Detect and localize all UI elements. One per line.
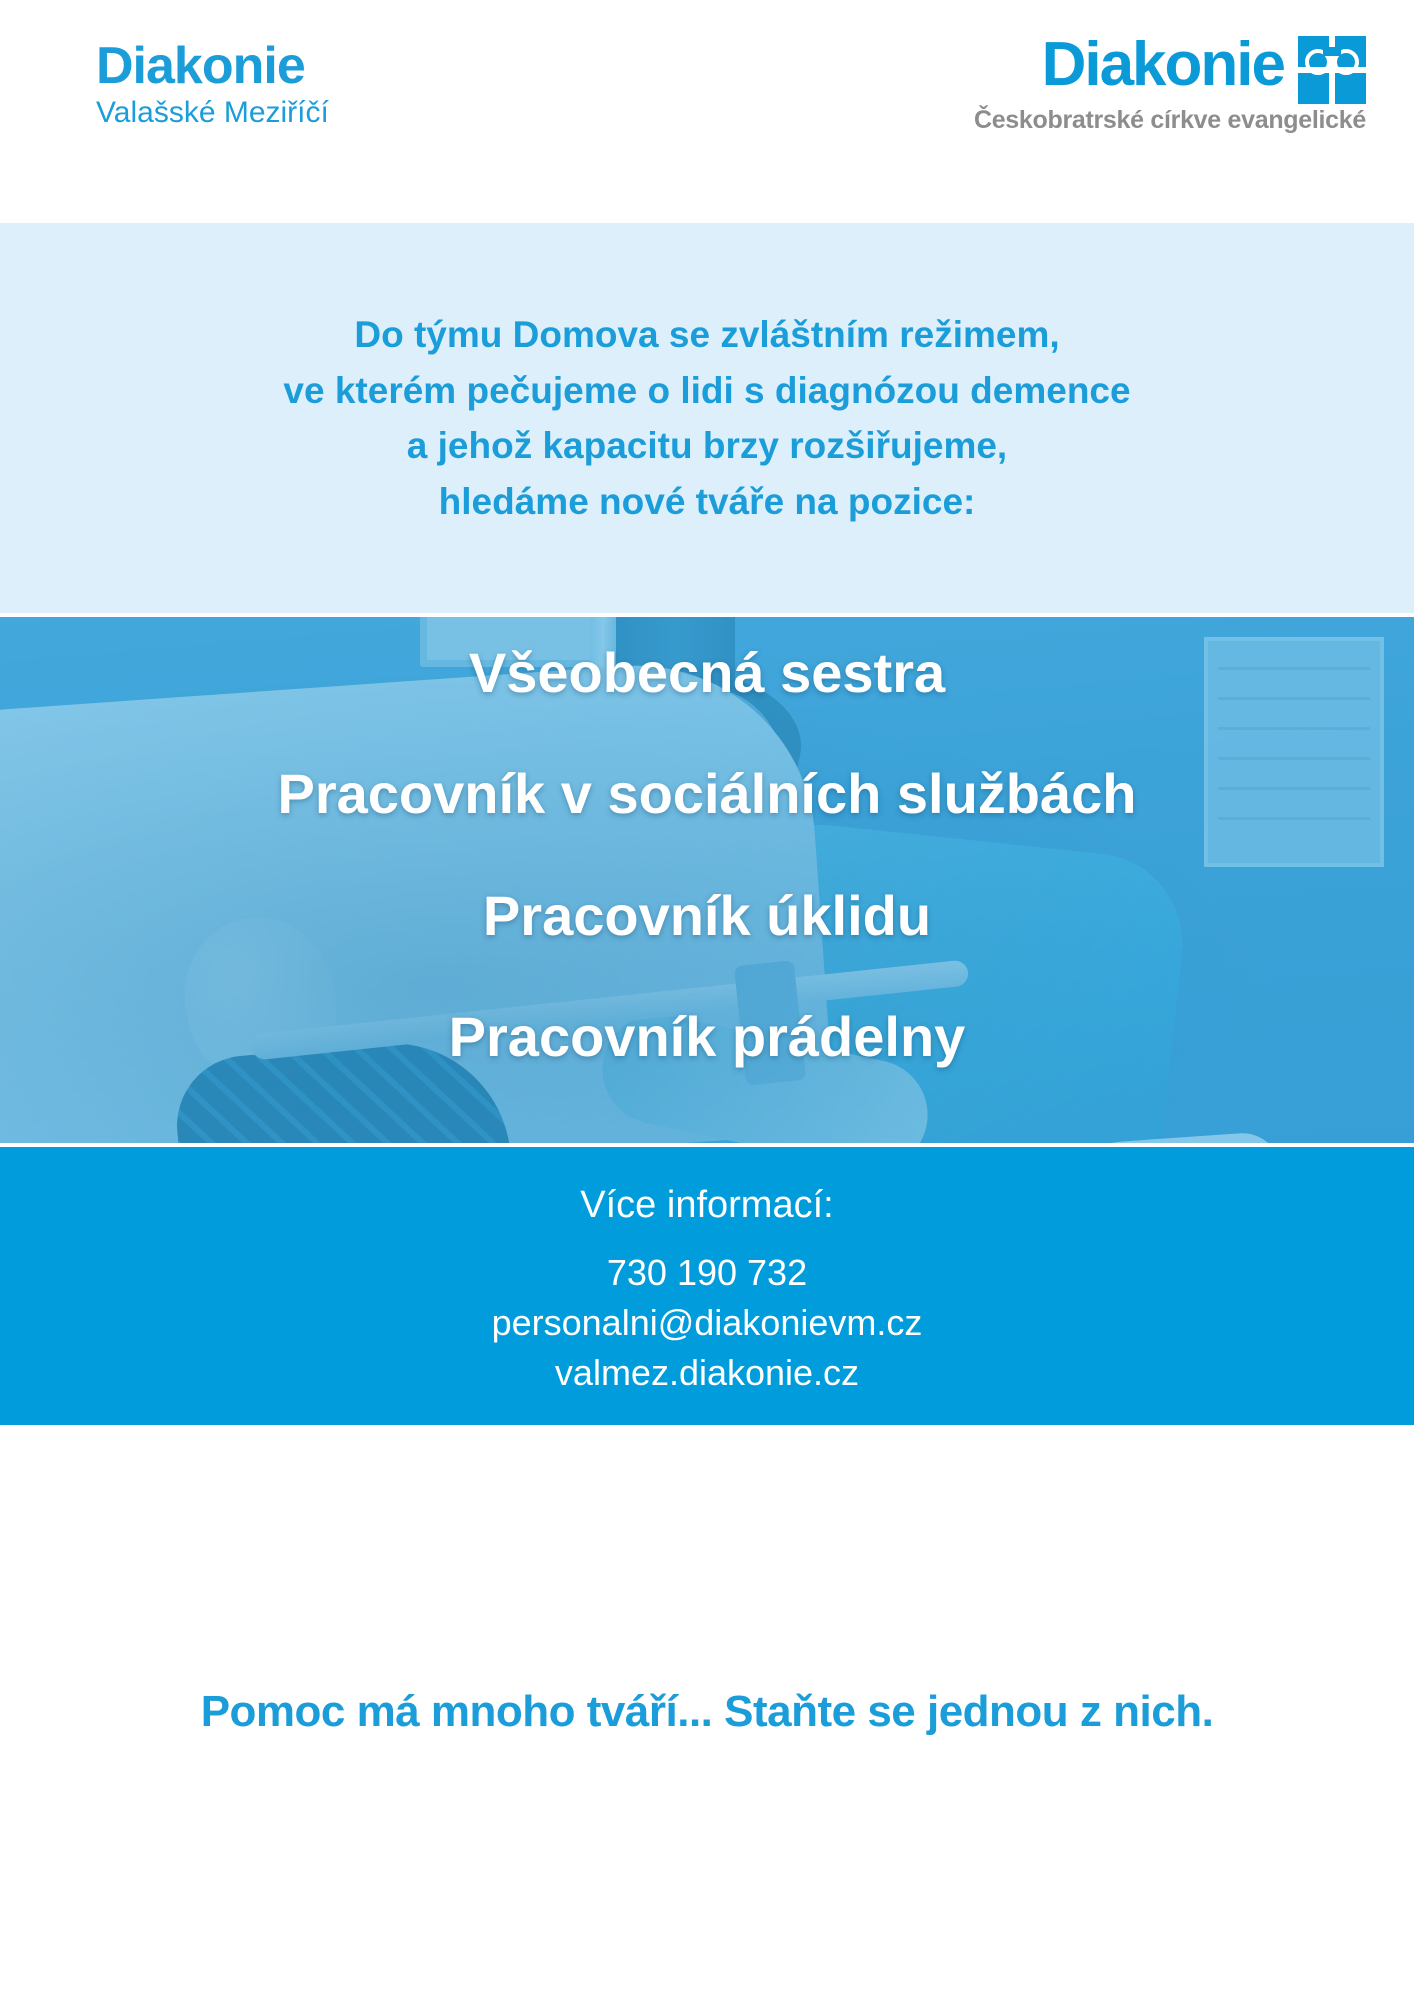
logo-right-row: Diakonie bbox=[1042, 36, 1366, 104]
job-positions-list: Všeobecná sestra Pracovník v sociálních … bbox=[0, 617, 1414, 1143]
logo-left-brand: Diakonie bbox=[96, 40, 329, 92]
intro-band: Do týmu Domova se zvláštním režimem, ve … bbox=[0, 223, 1414, 613]
logo-right-brand: Diakonie bbox=[1042, 36, 1284, 95]
contact-band: Více informací: 730 190 732 personalni@d… bbox=[0, 1147, 1414, 1425]
logo-diakonie-valmez: Diakonie Valašské Meziříčí bbox=[96, 40, 329, 131]
diakonie-cross-logomark-icon bbox=[1298, 36, 1366, 104]
contact-email[interactable]: personalni@diakonievm.cz bbox=[492, 1298, 923, 1348]
intro-line-4: hledáme nové tváře na pozice: bbox=[283, 474, 1130, 530]
contact-title: Více informací: bbox=[580, 1177, 833, 1234]
intro-headline: Do týmu Domova se zvláštním režimem, ve … bbox=[283, 307, 1130, 529]
job-position-2: Pracovník v sociálních službách bbox=[277, 763, 1136, 825]
poster-header: Diakonie Valašské Meziříčí Diakonie Česk… bbox=[0, 0, 1414, 223]
intro-line-2: ve kterém pečujeme o lidi s diagnózou de… bbox=[283, 363, 1130, 419]
contact-phone[interactable]: 730 190 732 bbox=[607, 1248, 807, 1298]
poster-tagline: Pomoc má mnoho tváří... Staňte se jednou… bbox=[201, 1687, 1214, 1737]
intro-line-3: a jehož kapacitu brzy rozšiřujeme, bbox=[283, 418, 1130, 474]
contact-website[interactable]: valmez.diakonie.cz bbox=[555, 1348, 859, 1398]
job-position-4: Pracovník prádelny bbox=[449, 1006, 966, 1068]
tagline-band: Pomoc má mnoho tváří... Staňte se jednou… bbox=[0, 1425, 1414, 2000]
intro-line-1: Do týmu Domova se zvláštním režimem, bbox=[283, 307, 1130, 363]
photo-section: Všeobecná sestra Pracovník v sociálních … bbox=[0, 617, 1414, 1143]
logo-diakonie-cce: Diakonie Českobratrské církve evangelick… bbox=[974, 36, 1366, 135]
recruitment-poster: Diakonie Valašské Meziříčí Diakonie Česk… bbox=[0, 0, 1414, 2000]
job-position-1: Všeobecná sestra bbox=[469, 642, 945, 704]
logo-right-subtitle: Českobratrské církve evangelické bbox=[974, 107, 1366, 135]
job-position-3: Pracovník úklidu bbox=[483, 885, 931, 947]
logo-left-subtitle: Valašské Meziříčí bbox=[96, 96, 329, 131]
